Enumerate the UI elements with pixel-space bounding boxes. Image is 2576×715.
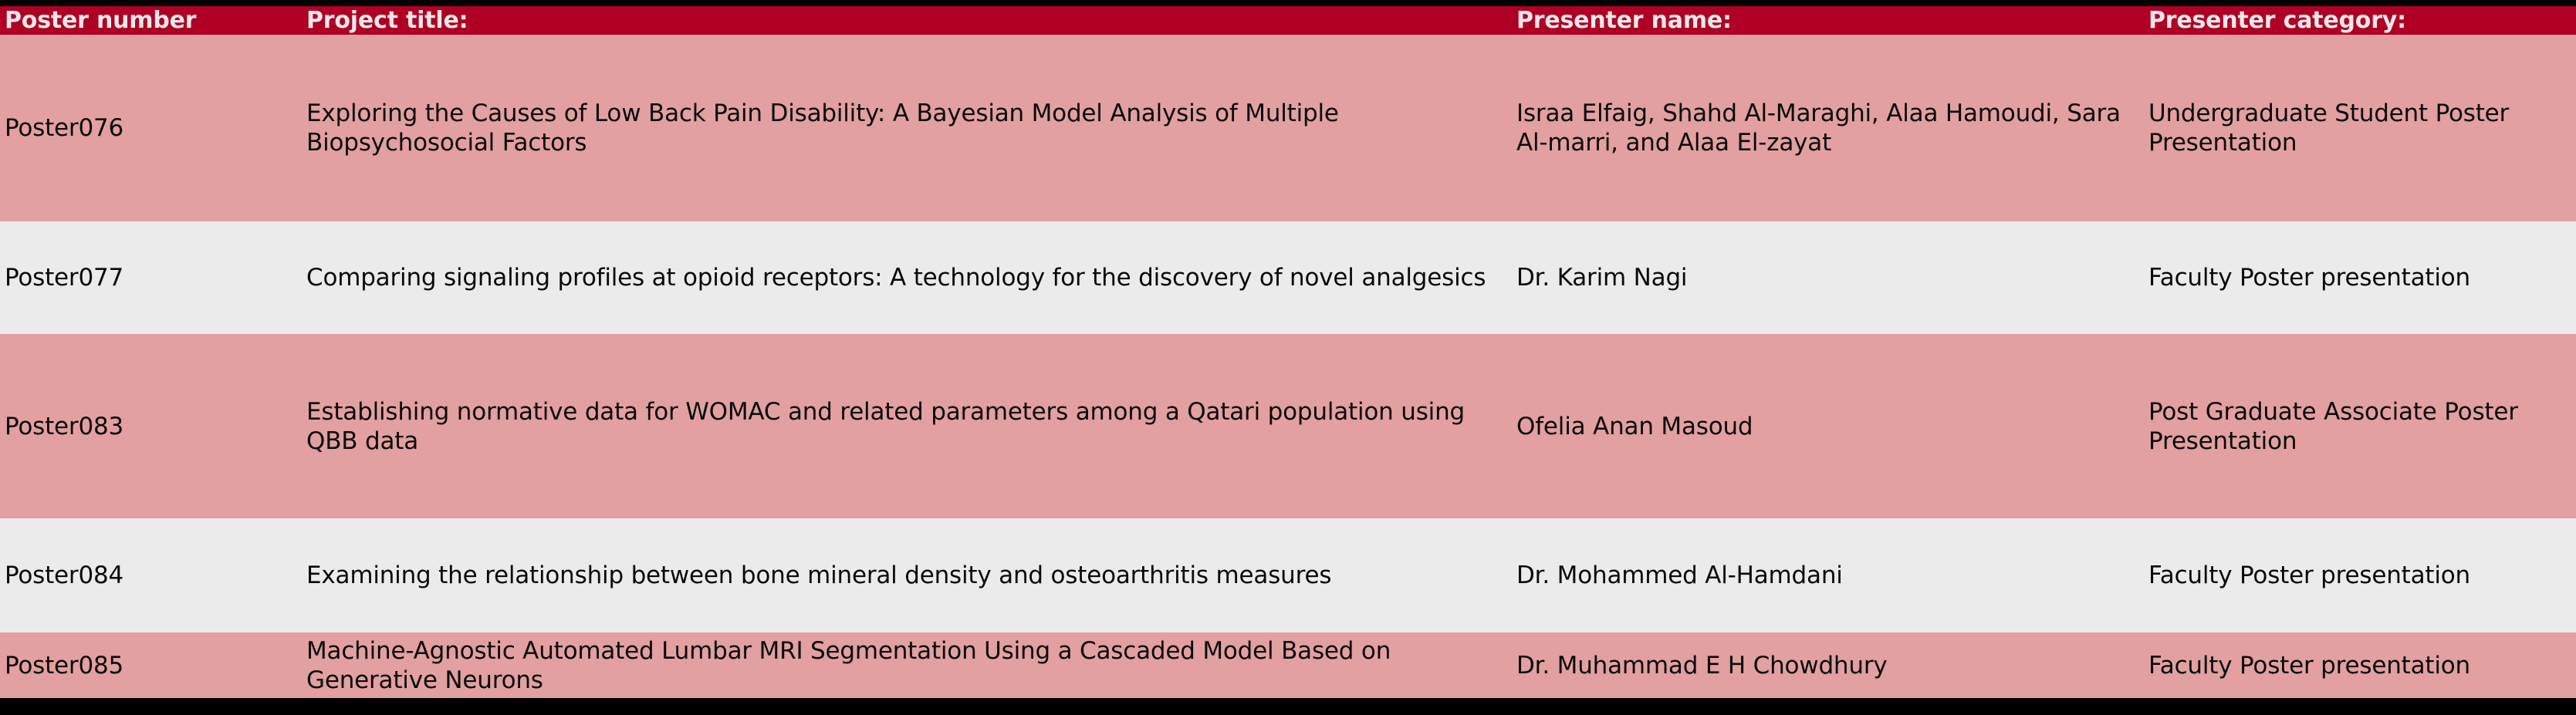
project-title-text: Examining the relationship between bone … xyxy=(306,561,1493,590)
table-header: Poster number Project title: Presenter n… xyxy=(0,6,2576,35)
column-header-presenter-name[interactable]: Presenter name: xyxy=(1509,6,2139,35)
cell-presenter-name: Dr. Karim Nagi xyxy=(1509,221,2139,334)
presenter-name-text: Ofelia Anan Masoud xyxy=(1516,412,2128,441)
cell-project-title: Examining the relationship between bone … xyxy=(289,518,1509,632)
cell-presenter-name: Ofelia Anan Masoud xyxy=(1509,334,2139,518)
presenter-category-text: Undergraduate Student Poster Presentatio… xyxy=(2148,99,2568,157)
table-header-row: Poster number Project title: Presenter n… xyxy=(0,6,2576,35)
poster-number-text: Poster083 xyxy=(5,412,283,441)
column-header-presenter-category[interactable]: Presenter category: xyxy=(2139,6,2576,35)
cell-poster-number: Poster077 xyxy=(0,221,289,334)
table-row[interactable]: Poster076 Exploring the Causes of Low Ba… xyxy=(0,35,2576,221)
table-body: Poster076 Exploring the Causes of Low Ba… xyxy=(0,35,2576,698)
presenter-name-text: Dr. Muhammad E H Chowdhury xyxy=(1516,651,2128,680)
cell-poster-number: Poster084 xyxy=(0,518,289,632)
poster-number-text: Poster085 xyxy=(5,651,283,680)
cell-presenter-name: Dr. Muhammad E H Chowdhury xyxy=(1509,632,2139,698)
presenter-name-text: Israa Elfaig, Shahd Al-Maraghi, Alaa Ham… xyxy=(1516,99,2128,157)
table-row[interactable]: Poster084 Examining the relationship bet… xyxy=(0,518,2576,632)
table-row[interactable]: Poster083 Establishing normative data fo… xyxy=(0,334,2576,518)
cell-presenter-category: Faculty Poster presentation xyxy=(2139,221,2576,334)
cell-presenter-category: Faculty Poster presentation xyxy=(2139,518,2576,632)
poster-schedule-table: Poster number Project title: Presenter n… xyxy=(0,6,2576,698)
cell-project-title: Machine-Agnostic Automated Lumbar MRI Se… xyxy=(289,632,1509,698)
project-title-text: Machine-Agnostic Automated Lumbar MRI Se… xyxy=(306,636,1493,695)
cell-poster-number: Poster076 xyxy=(0,35,289,221)
project-title-text: Establishing normative data for WOMAC an… xyxy=(306,397,1493,456)
presenter-name-text: Dr. Mohammed Al-Hamdani xyxy=(1516,561,2128,590)
project-title-text: Comparing signaling profiles at opioid r… xyxy=(306,263,1493,292)
poster-number-text: Poster077 xyxy=(5,263,283,292)
cell-project-title: Exploring the Causes of Low Back Pain Di… xyxy=(289,35,1509,221)
poster-schedule-page: Poster number Project title: Presenter n… xyxy=(0,0,2576,715)
table-row[interactable]: Poster085 Machine-Agnostic Automated Lum… xyxy=(0,632,2576,698)
poster-number-text: Poster084 xyxy=(5,561,283,590)
presenter-name-text: Dr. Karim Nagi xyxy=(1516,263,2128,292)
cell-presenter-category: Undergraduate Student Poster Presentatio… xyxy=(2139,35,2576,221)
cell-project-title: Establishing normative data for WOMAC an… xyxy=(289,334,1509,518)
column-header-project-title[interactable]: Project title: xyxy=(289,6,1509,35)
cell-presenter-category: Post Graduate Associate Poster Presentat… xyxy=(2139,334,2576,518)
cell-presenter-name: Dr. Mohammed Al-Hamdani xyxy=(1509,518,2139,632)
column-header-poster-number[interactable]: Poster number xyxy=(0,6,289,35)
presenter-category-text: Faculty Poster presentation xyxy=(2148,561,2568,590)
presenter-category-text: Post Graduate Associate Poster Presentat… xyxy=(2148,397,2568,456)
cell-poster-number: Poster085 xyxy=(0,632,289,698)
table-row[interactable]: Poster077 Comparing signaling profiles a… xyxy=(0,221,2576,334)
cell-poster-number: Poster083 xyxy=(0,334,289,518)
cell-project-title: Comparing signaling profiles at opioid r… xyxy=(289,221,1509,334)
presenter-category-text: Faculty Poster presentation xyxy=(2148,651,2568,680)
poster-number-text: Poster076 xyxy=(5,113,283,143)
presenter-category-text: Faculty Poster presentation xyxy=(2148,263,2568,292)
cell-presenter-name: Israa Elfaig, Shahd Al-Maraghi, Alaa Ham… xyxy=(1509,35,2139,221)
cell-presenter-category: Faculty Poster presentation xyxy=(2139,632,2576,698)
project-title-text: Exploring the Causes of Low Back Pain Di… xyxy=(306,99,1493,157)
